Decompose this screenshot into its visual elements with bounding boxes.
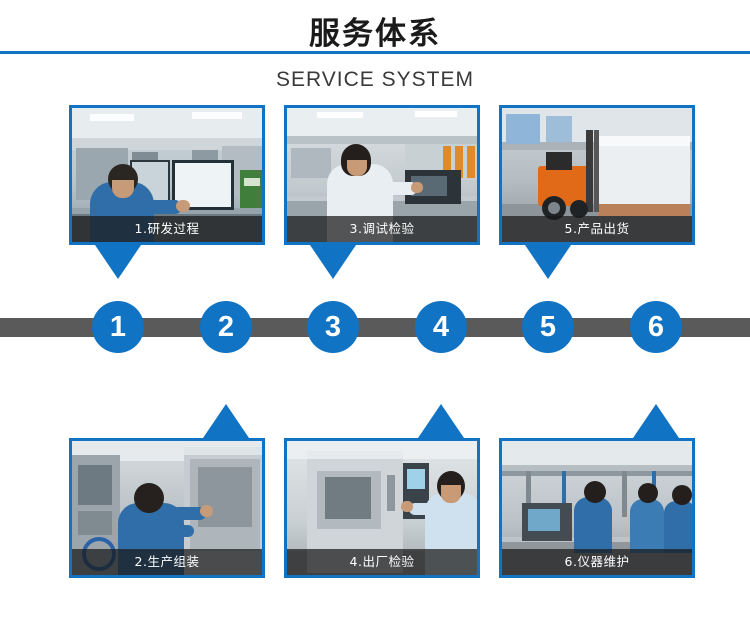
step-number-3: 3 — [325, 311, 341, 343]
step-number-1: 1 — [110, 311, 126, 343]
pointer-card-6 — [633, 404, 679, 438]
card-3[interactable]: 3.调试检验 — [284, 105, 480, 245]
pointer-card-5 — [525, 245, 571, 279]
step-circle-3[interactable]: 3 — [307, 301, 359, 353]
step-circle-2[interactable]: 2 — [200, 301, 252, 353]
pointer-card-3 — [310, 245, 356, 279]
card-6-caption: 6.仪器维护 — [502, 549, 692, 575]
pointer-card-1 — [95, 245, 141, 279]
card-6[interactable]: 6.仪器维护 — [499, 438, 695, 578]
card-3-caption: 3.调试检验 — [287, 216, 477, 242]
page-title-cn: 服务体系 — [0, 8, 750, 53]
step-number-2: 2 — [218, 311, 234, 343]
card-5[interactable]: 5.产品出货 — [499, 105, 695, 245]
card-2[interactable]: 2.生产组装 — [69, 438, 265, 578]
service-system-infographic: 服务体系 SERVICE SYSTEM — [0, 0, 750, 621]
card-1-caption: 1.研发过程 — [72, 216, 262, 242]
step-number-5: 5 — [540, 311, 556, 343]
step-circle-1[interactable]: 1 — [92, 301, 144, 353]
step-circle-6[interactable]: 6 — [630, 301, 682, 353]
card-5-caption: 5.产品出货 — [502, 216, 692, 242]
page-title-en: SERVICE SYSTEM — [0, 68, 750, 92]
card-4-caption: 4.出厂检验 — [287, 549, 477, 575]
card-4[interactable]: 4.出厂检验 — [284, 438, 480, 578]
step-number-4: 4 — [433, 311, 449, 343]
card-2-caption: 2.生产组装 — [72, 549, 262, 575]
pointer-card-2 — [203, 404, 249, 438]
pointer-card-4 — [418, 404, 464, 438]
step-number-6: 6 — [648, 311, 664, 343]
step-circle-4[interactable]: 4 — [415, 301, 467, 353]
card-1[interactable]: 1.研发过程 — [69, 105, 265, 245]
step-circle-5[interactable]: 5 — [522, 301, 574, 353]
header-divider — [0, 51, 750, 54]
